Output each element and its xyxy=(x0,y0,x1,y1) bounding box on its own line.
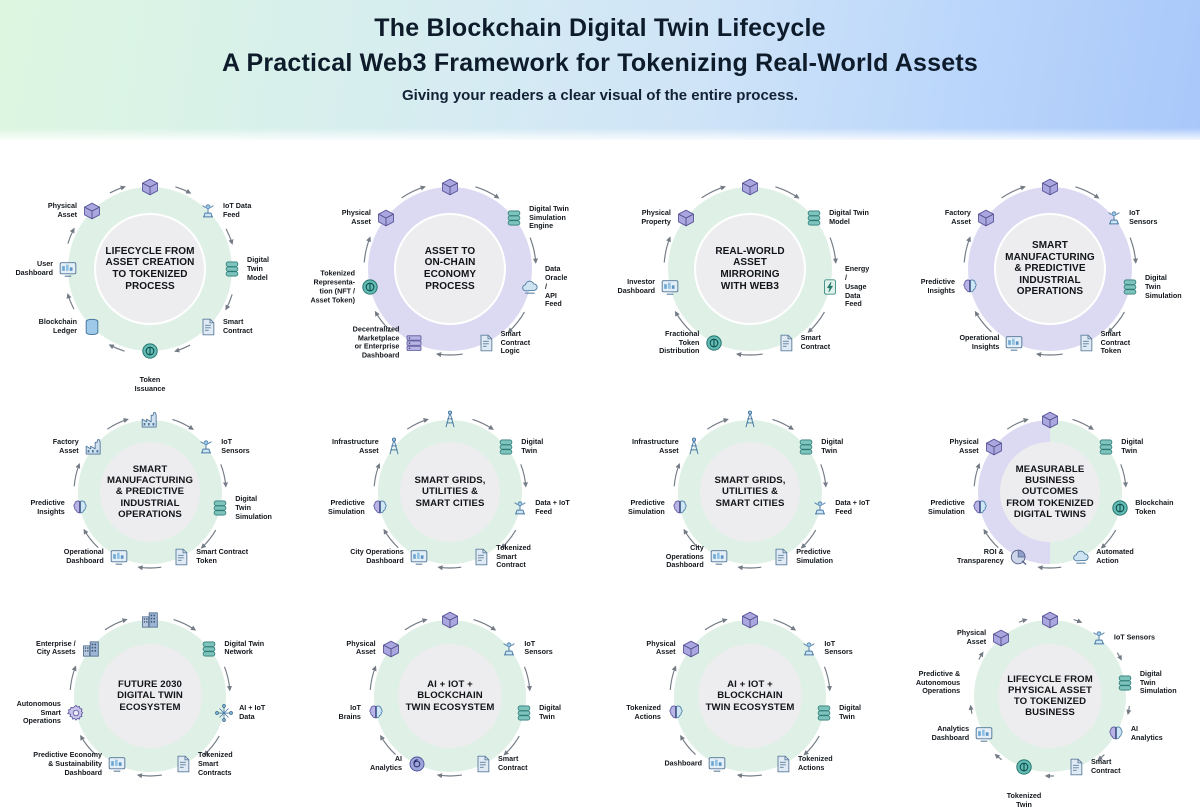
cycle-center-label: REAL-WORLD ASSET MIRRORING WITH WEB3 xyxy=(709,246,790,292)
gear-twin-icon[interactable] xyxy=(209,497,231,519)
factory-icon[interactable] xyxy=(83,436,105,458)
node-label: Blockchain Ledger xyxy=(39,318,77,336)
node-label: Dashboard xyxy=(664,760,702,769)
gear-twin-icon[interactable] xyxy=(221,258,243,280)
cube-icon[interactable] xyxy=(81,200,103,222)
cloud-icon[interactable] xyxy=(1070,546,1092,568)
node-label: Operational Insights xyxy=(959,334,999,352)
node-label: Tokenized Actions xyxy=(626,704,661,722)
dashboard-icon[interactable] xyxy=(706,753,728,775)
cycle-center-disc: SMART GRIDS, UTILITIES & SMART CITIES xyxy=(400,442,500,542)
cube-icon[interactable] xyxy=(680,638,702,660)
node-label: IoT Sensors xyxy=(221,438,249,456)
cycle-cell-real-world-asset-mirroring-with-web3: REAL-WORLD ASSET MIRRORING WITH WEB3Digi… xyxy=(600,146,900,392)
cycle-cell-smart-grids-utilities-smart-cities-a: SMART GRIDS, UTILITIES & SMART CITIESDig… xyxy=(300,392,600,592)
satellite-icon[interactable] xyxy=(1103,207,1125,229)
brain-icon[interactable] xyxy=(1105,723,1127,745)
token-icon[interactable] xyxy=(139,340,161,362)
node-label: Digital Twin Model xyxy=(247,256,270,282)
document-icon[interactable] xyxy=(470,546,492,568)
node-label: Predictive Insights xyxy=(921,278,955,296)
node-label: Smart Contract xyxy=(498,756,528,774)
cycle-center-label: AI + IOT + BLOCKCHAIN TWIN ECOSYSTEM xyxy=(700,679,801,712)
cube-icon[interactable] xyxy=(380,638,402,660)
node-label: Tokenized Actions xyxy=(798,756,833,774)
cycle-diagram: AI + IOT + BLOCKCHAIN TWIN ECOSYSTEMIoT … xyxy=(330,597,570,795)
satellite-icon[interactable] xyxy=(798,638,820,660)
cycle-center-label: SMART GRIDS, UTILITIES & SMART CITIES xyxy=(408,475,491,508)
document-icon[interactable] xyxy=(775,332,797,354)
cycle-cell-lifecycle-asset-creation-to-tokenized-process: LIFECYCLE FROM ASSET CREATION TO TOKENIZ… xyxy=(0,146,300,392)
chart-icon[interactable] xyxy=(1008,546,1030,568)
cycle-cell-smart-grids-utilities-smart-cities-b: SMART GRIDS, UTILITIES & SMART CITIESDig… xyxy=(600,392,900,592)
token-icon[interactable] xyxy=(359,276,381,298)
dashboard-icon[interactable] xyxy=(659,276,681,298)
cycle-anchor-icon xyxy=(1039,176,1061,198)
cycle-center-disc: LIFECYCLE FROM PHYSICAL ASSET TO TOKENIZ… xyxy=(998,644,1102,748)
node-label: Physical Property xyxy=(641,209,671,227)
building-icon[interactable] xyxy=(80,638,102,660)
document-icon[interactable] xyxy=(472,753,494,775)
cycle-cell-asset-to-on-chain-economy-process: ASSET TO ON-CHAIN ECONOMY PROCESSDigital… xyxy=(300,146,600,392)
database-icon[interactable] xyxy=(81,316,103,338)
node-label: Tokenized Twin xyxy=(1007,792,1042,810)
node-label: Smart Contract xyxy=(1091,759,1121,777)
cycle-diagram: ASSET TO ON-CHAIN ECONOMY PROCESSDigital… xyxy=(330,154,570,384)
satellite-icon[interactable] xyxy=(1088,627,1110,649)
cycle-anchor-icon xyxy=(139,409,161,431)
node-label: AI Analytics xyxy=(1131,725,1163,743)
cycle-anchor-icon xyxy=(139,176,161,198)
cycle-center-disc: ASSET TO ON-CHAIN ECONOMY PROCESS xyxy=(396,215,504,323)
brain-icon[interactable] xyxy=(365,702,387,724)
node-label: Smart Contract xyxy=(801,334,831,352)
token-icon[interactable] xyxy=(703,332,725,354)
node-label: Digital Twin Network xyxy=(224,640,264,658)
satellite-icon[interactable] xyxy=(809,497,831,519)
dashboard-icon[interactable] xyxy=(408,546,430,568)
node-label: Infrastructure Asset xyxy=(332,438,379,456)
node-label: IoT Sensors xyxy=(824,640,852,658)
node-label: IoT Sensors xyxy=(524,640,552,658)
cycle-cell-measurable-business-outcomes-from-tokenized-digital-twins: MEASURABLE BUSINESS OUTCOMES FROM TOKENI… xyxy=(900,392,1200,592)
cycle-anchor-icon xyxy=(1039,409,1061,431)
page-title-line1: The Blockchain Digital Twin Lifecycle xyxy=(374,12,825,45)
gear-twin-icon[interactable] xyxy=(503,207,525,229)
page-title-line2: A Practical Web3 Framework for Tokenizin… xyxy=(222,47,978,81)
node-label: Data + IoT Feed xyxy=(835,499,870,517)
cycle-diagram: SMART MANUFACTURING & PREDICTIVE INDUSTR… xyxy=(30,397,270,587)
server-icon[interactable] xyxy=(403,332,425,354)
dashboard-icon[interactable] xyxy=(1003,332,1025,354)
node-label: AI + IoT Data xyxy=(239,704,265,722)
node-label: Smart Contract xyxy=(223,318,253,336)
node-label: Smart Contract Token xyxy=(1101,330,1131,356)
cube-icon[interactable] xyxy=(990,627,1012,649)
cycle-center-disc: SMART MANUFACTURING & PREDICTIVE INDUSTR… xyxy=(996,215,1104,323)
cube-icon[interactable] xyxy=(375,207,397,229)
node-label: IoT Brains xyxy=(339,704,361,722)
node-label: Automated Action xyxy=(1096,548,1134,566)
cycle-anchor-icon xyxy=(739,409,761,431)
node-label: Physical Asset xyxy=(950,438,979,456)
node-label: Autonomous Smart Operations xyxy=(17,700,61,726)
node-label: Decentralized Marketplace or Enterprise … xyxy=(353,325,400,360)
cycle-center-label: SMART MANUFACTURING & PREDICTIVE INDUSTR… xyxy=(101,464,199,520)
brain-icon[interactable] xyxy=(669,497,691,519)
cycle-center-disc: SMART MANUFACTURING & PREDICTIVE INDUSTR… xyxy=(100,442,200,542)
node-label: Enterprise / City Assets xyxy=(36,640,76,658)
cycle-center-label: LIFECYCLE FROM ASSET CREATION TO TOKENIZ… xyxy=(99,246,200,292)
cycle-center-disc: AI + IOT + BLOCKCHAIN TWIN ECOSYSTEM xyxy=(698,644,802,748)
gear-twin-icon[interactable] xyxy=(795,436,817,458)
node-label: Smart Contract Token xyxy=(196,548,248,566)
node-label: ROI & Transparency xyxy=(957,548,1004,566)
node-label: Digital Twin Simulation xyxy=(235,495,272,521)
cycle-center-disc: MEASURABLE BUSINESS OUTCOMES FROM TOKENI… xyxy=(1000,442,1100,542)
cycle-cell-lifecycle-from-physical-asset-to-tokenized-business: LIFECYCLE FROM PHYSICAL ASSET TO TOKENIZ… xyxy=(900,592,1200,800)
cycle-anchor-icon xyxy=(139,609,161,631)
node-label: Data + IoT Feed xyxy=(535,499,570,517)
cycle-center-disc: FUTURE 2030 DIGITAL TWIN ECOSYSTEM xyxy=(98,644,202,748)
node-label: Predictive Simulation xyxy=(628,499,665,517)
document-icon[interactable] xyxy=(772,753,794,775)
node-label: AI Analytics xyxy=(370,756,402,774)
node-label: Predictive Simulation xyxy=(328,499,365,517)
node-label: Predictive Economy & Sustainability Dash… xyxy=(33,751,102,777)
brain-icon[interactable] xyxy=(69,497,91,519)
cycle-diagram: SMART GRIDS, UTILITIES & SMART CITIESDig… xyxy=(630,397,870,587)
cycle-anchor-icon xyxy=(439,176,461,198)
cycle-diagram: FUTURE 2030 DIGITAL TWIN ECOSYSTEMDigita… xyxy=(30,597,270,795)
cycle-center-disc: AI + IOT + BLOCKCHAIN TWIN ECOSYSTEM xyxy=(398,644,502,748)
dashboard-icon[interactable] xyxy=(106,753,128,775)
node-label: Digital Twin Simulation Engine xyxy=(529,205,569,231)
cycle-diagram: LIFECYCLE FROM ASSET CREATION TO TOKENIZ… xyxy=(30,154,270,384)
document-icon[interactable] xyxy=(475,332,497,354)
gear-twin-icon[interactable] xyxy=(495,436,517,458)
node-label: Predictive Insights xyxy=(30,499,64,517)
brain-icon[interactable] xyxy=(665,702,687,724)
brain-icon[interactable] xyxy=(959,276,981,298)
node-label: Digital Twin Model xyxy=(829,209,869,227)
cube-icon[interactable] xyxy=(675,207,697,229)
cycle-center-label: ASSET TO ON-CHAIN ECONOMY PROCESS xyxy=(418,246,482,292)
cycle-cell-smart-manufacturing-predictive-industrial-operations-b: SMART MANUFACTURING & PREDICTIVE INDUSTR… xyxy=(0,392,300,592)
node-label: Digital Twin xyxy=(1121,438,1143,456)
dashboard-icon[interactable] xyxy=(708,546,730,568)
satellite-icon[interactable] xyxy=(195,436,217,458)
token-icon[interactable] xyxy=(1013,756,1035,778)
node-label: Factory Asset xyxy=(945,209,971,227)
node-label: IoT Sensors xyxy=(1129,209,1157,227)
node-label: User Dashboard xyxy=(15,260,53,278)
cycle-center-disc: REAL-WORLD ASSET MIRRORING WITH WEB3 xyxy=(696,215,804,323)
node-label: Digital Twin xyxy=(521,438,543,456)
node-label: Tokenized Smart Contracts xyxy=(198,751,233,777)
ai-icon[interactable] xyxy=(406,753,428,775)
node-label: Physical Asset xyxy=(646,640,675,658)
node-label: City Operations Dashboard xyxy=(666,544,704,570)
dashboard-icon[interactable] xyxy=(108,546,130,568)
cycle-diagram: LIFECYCLE FROM PHYSICAL ASSET TO TOKENIZ… xyxy=(930,597,1170,795)
cycle-anchor-icon xyxy=(1039,609,1061,631)
gear-twin-icon[interactable] xyxy=(813,702,835,724)
node-label: Digital Twin Simulation xyxy=(1145,274,1182,300)
cloud-icon[interactable] xyxy=(519,276,541,298)
cycle-anchor-icon xyxy=(739,609,761,631)
dashboard-icon[interactable] xyxy=(57,258,79,280)
infographic-canvas: The Blockchain Digital Twin Lifecycle A … xyxy=(0,0,1200,800)
node-label: Digital Twin xyxy=(821,438,843,456)
node-label: Digital Twin xyxy=(839,704,861,722)
node-label: Physical Asset xyxy=(48,202,77,220)
gear-icon[interactable] xyxy=(65,702,87,724)
cycle-cell-smart-manufacturing-predictive-industrial-operations-a: SMART MANUFACTURING & PREDICTIVE INDUSTR… xyxy=(900,146,1200,392)
tower-icon[interactable] xyxy=(383,436,405,458)
node-label: Data Oracle / API Feed xyxy=(545,265,570,309)
cycle-cell-future-2030-digital-twin-ecosystem: FUTURE 2030 DIGITAL TWIN ECOSYSTEMDigita… xyxy=(0,592,300,800)
document-icon[interactable] xyxy=(770,546,792,568)
cycle-center-disc: LIFECYCLE FROM ASSET CREATION TO TOKENIZ… xyxy=(96,215,204,323)
gear-twin-icon[interactable] xyxy=(803,207,825,229)
gear-twin-icon[interactable] xyxy=(198,638,220,660)
document-icon[interactable] xyxy=(172,753,194,775)
cycle-anchor-icon xyxy=(739,176,761,198)
document-icon[interactable] xyxy=(1065,756,1087,778)
cycle-diagram-grid: LIFECYCLE FROM ASSET CREATION TO TOKENIZ… xyxy=(0,146,1200,800)
node-label: Physical Asset xyxy=(957,629,986,647)
node-label: Token Issuance xyxy=(135,376,166,394)
cycle-diagram: AI + IOT + BLOCKCHAIN TWIN ECOSYSTEMIoT … xyxy=(630,597,870,795)
cycle-diagram: MEASURABLE BUSINESS OUTCOMES FROM TOKENI… xyxy=(930,397,1170,587)
brain-icon[interactable] xyxy=(969,497,991,519)
node-label: IoT Sensors xyxy=(1114,633,1155,642)
node-label: Analytics Dashboard xyxy=(932,725,970,743)
node-label: Blockchain Token xyxy=(1135,499,1173,517)
satellite-icon[interactable] xyxy=(197,200,219,222)
node-label: Fractional Token Distribution xyxy=(659,330,699,356)
network-icon[interactable] xyxy=(213,702,235,724)
node-label: Digital Twin xyxy=(539,704,561,722)
gear-twin-icon[interactable] xyxy=(1119,276,1141,298)
document-icon[interactable] xyxy=(1075,332,1097,354)
gear-twin-icon[interactable] xyxy=(1095,436,1117,458)
cycle-anchor-icon xyxy=(439,409,461,431)
node-label: Energy / Usage Data Feed xyxy=(845,265,870,309)
brain-icon[interactable] xyxy=(369,497,391,519)
cycle-center-label: MEASURABLE BUSINESS OUTCOMES FROM TOKENI… xyxy=(1000,464,1100,520)
cycle-center-label: SMART MANUFACTURING & PREDICTIVE INDUSTR… xyxy=(999,240,1101,298)
node-label: Tokenized Representa- tion (NFT / Asset … xyxy=(310,270,355,305)
cycle-diagram: SMART MANUFACTURING & PREDICTIVE INDUSTR… xyxy=(930,154,1170,384)
node-label: Tokenized Smart Contract xyxy=(496,544,531,570)
node-label: Physical Asset xyxy=(346,640,375,658)
node-label: Smart Contract Logic xyxy=(501,330,531,356)
node-label: Predictive Simulation xyxy=(796,548,833,566)
node-label: Factory Asset xyxy=(53,438,79,456)
document-icon[interactable] xyxy=(170,546,192,568)
node-label: Physical Asset xyxy=(342,209,371,227)
satellite-icon[interactable] xyxy=(509,497,531,519)
cycle-center-disc: SMART GRIDS, UTILITIES & SMART CITIES xyxy=(700,442,800,542)
gear-twin-icon[interactable] xyxy=(513,702,535,724)
cycle-center-label: SMART GRIDS, UTILITIES & SMART CITIES xyxy=(708,475,791,508)
document-icon[interactable] xyxy=(197,316,219,338)
cube-icon[interactable] xyxy=(983,436,1005,458)
bolt-icon[interactable] xyxy=(819,276,841,298)
cycle-diagram: SMART GRIDS, UTILITIES & SMART CITIESDig… xyxy=(330,397,570,587)
satellite-icon[interactable] xyxy=(498,638,520,660)
dashboard-icon[interactable] xyxy=(973,723,995,745)
node-label: Predictive & Autonomous Operations xyxy=(916,670,960,696)
gear-twin-icon[interactable] xyxy=(1114,672,1136,694)
cycle-diagram: REAL-WORLD ASSET MIRRORING WITH WEB3Digi… xyxy=(630,154,870,384)
cycle-cell-ai-iot-blockchain-twin-ecosystem-a: AI + IOT + BLOCKCHAIN TWIN ECOSYSTEMIoT … xyxy=(300,592,600,800)
cycle-cell-ai-iot-blockchain-twin-ecosystem-b: AI + IOT + BLOCKCHAIN TWIN ECOSYSTEMIoT … xyxy=(600,592,900,800)
node-label: IoT Data Feed xyxy=(223,202,251,220)
header-banner: The Blockchain Digital Twin Lifecycle A … xyxy=(0,0,1200,140)
cycle-center-label: AI + IOT + BLOCKCHAIN TWIN ECOSYSTEM xyxy=(400,679,501,712)
tower-icon[interactable] xyxy=(683,436,705,458)
page-subtitle: Giving your readers a clear visual of th… xyxy=(402,87,798,104)
token-icon[interactable] xyxy=(1109,497,1131,519)
node-label: Digital Twin Simulation xyxy=(1140,670,1177,696)
node-label: Infrastructure Asset xyxy=(632,438,679,456)
node-label: Predictive Simulation xyxy=(928,499,965,517)
cycle-center-label: FUTURE 2030 DIGITAL TWIN ECOSYSTEM xyxy=(111,679,189,712)
cube-icon[interactable] xyxy=(975,207,997,229)
cycle-center-label: LIFECYCLE FROM PHYSICAL ASSET TO TOKENIZ… xyxy=(1001,674,1099,719)
node-label: Investor Dashboard xyxy=(618,278,656,296)
none[interactable] xyxy=(964,672,986,694)
node-label: Operational Dashboard xyxy=(64,548,104,566)
node-label: City Operations Dashboard xyxy=(350,548,404,566)
cycle-anchor-icon xyxy=(439,609,461,631)
